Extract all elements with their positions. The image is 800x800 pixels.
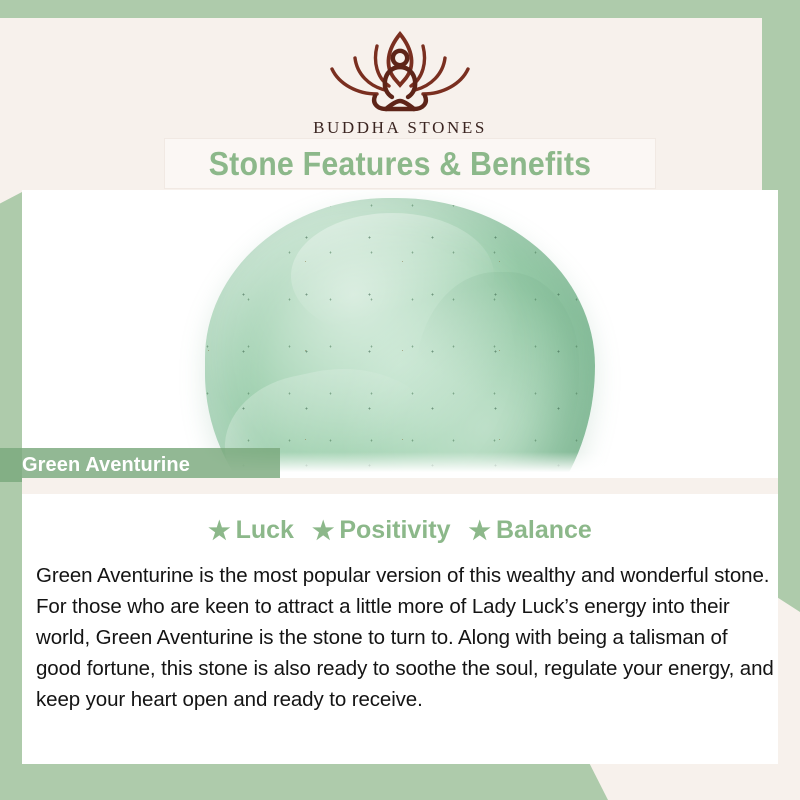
lotus-meditation-icon (315, 24, 485, 116)
trait-item: ★Positivity (312, 516, 451, 546)
stone-photo (22, 190, 778, 478)
trait-item: ★Luck (208, 516, 294, 546)
brand-name: BUDDHA STONES (0, 118, 800, 138)
frame-top-border (0, 0, 800, 18)
trait-list: ★Luck★Positivity★Balance (0, 516, 800, 546)
brand-logo: BUDDHA STONES (0, 18, 800, 138)
page-title: Stone Features & Benefits (32, 139, 768, 188)
trait-label: Balance (496, 516, 592, 544)
stone-speckle-texture (205, 198, 595, 478)
trait-label: Positivity (339, 516, 450, 544)
separator-strip (22, 478, 778, 494)
stone-description: Green Aventurine is the most popular ver… (36, 560, 778, 715)
stone-image (205, 198, 595, 478)
trait-item: ★Balance (469, 516, 592, 546)
star-icon: ★ (469, 516, 491, 546)
frame-bottom-border (0, 764, 608, 800)
infographic-page: BUDDHA STONES Stone Features & Benefits … (0, 0, 800, 800)
trait-label: Luck (236, 516, 294, 544)
star-icon: ★ (208, 516, 230, 546)
star-icon: ★ (312, 516, 334, 546)
stone-name-label: Green Aventurine (22, 448, 190, 482)
